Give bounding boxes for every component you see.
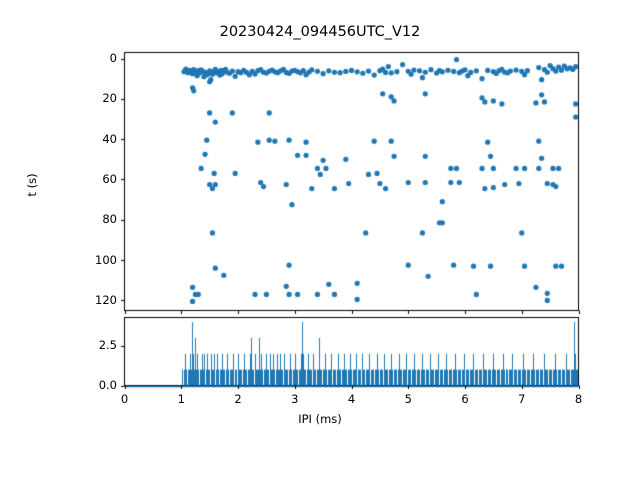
matplotlib-figure: 20230424_094456UTC_V12 IPI (ms) t (s) 02…: [0, 0, 640, 480]
plot-canvas: [0, 0, 640, 480]
